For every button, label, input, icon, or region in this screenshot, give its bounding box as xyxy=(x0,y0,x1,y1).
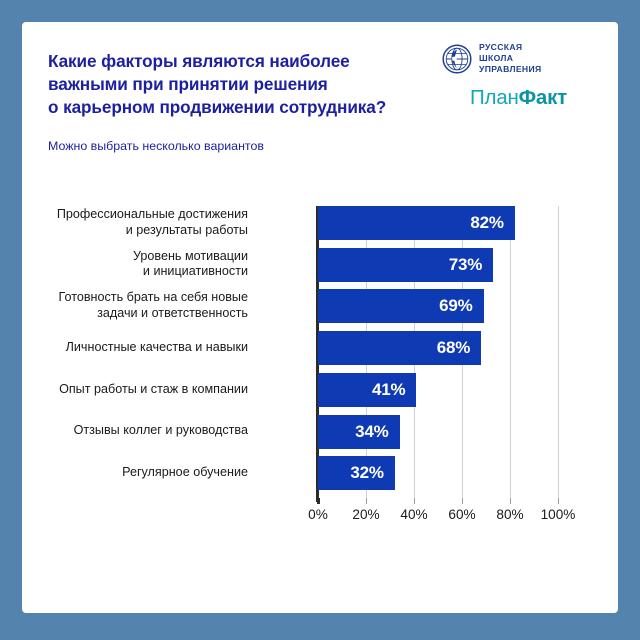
header: Какие факторы являются наиболее важными … xyxy=(22,22,618,162)
bar-row: 34% xyxy=(318,415,558,449)
category-label-line: Готовность брать на себя новые xyxy=(22,290,248,306)
infographic-frame: Какие факторы являются наиболее важными … xyxy=(0,0,640,640)
category-label-line: задачи и ответственность xyxy=(22,306,248,322)
bar-value-label: 32% xyxy=(350,463,394,483)
category-label-line: Уровень мотивации xyxy=(22,249,248,265)
category-label-line: Опыт работы и стаж в компании xyxy=(22,382,248,398)
x-tick-label-60: 60% xyxy=(448,507,475,522)
bar-value-label: 73% xyxy=(449,255,493,275)
x-axis: 0%20%40%60%80%100% xyxy=(318,498,568,538)
page-title-line-3: о карьерном продвижении сотрудника? xyxy=(48,96,418,119)
bar-value-label: 82% xyxy=(470,213,514,233)
rsu-logo-text: РУССКАЯ ШКОЛА УПРАВЛЕНИЯ xyxy=(479,42,542,76)
bar-value-label: 34% xyxy=(355,422,399,442)
page-title-line-1: Какие факторы являются наиболее xyxy=(48,50,418,73)
gridline-100 xyxy=(558,206,559,498)
bar-value-label: 68% xyxy=(437,338,481,358)
x-tick-20 xyxy=(366,498,367,504)
bar-row: 32% xyxy=(318,456,558,490)
x-tick-60 xyxy=(462,498,463,504)
infographic-card: Какие факторы являются наиболее важными … xyxy=(22,22,618,613)
plot-area: 82%Профессиональные достиженияи результа… xyxy=(318,206,558,498)
category-label: Регулярное обучение xyxy=(22,465,248,481)
bar: 34% xyxy=(318,415,400,449)
bar: 41% xyxy=(318,373,416,407)
rsu-logo-line-2: ШКОЛА xyxy=(479,53,542,64)
category-label: Профессиональные достиженияи результаты … xyxy=(22,207,248,238)
category-label: Уровень мотивациии инициативности xyxy=(22,249,248,280)
x-tick-label-100: 100% xyxy=(541,507,576,522)
bar: 82% xyxy=(318,206,515,240)
category-label-line: Регулярное обучение xyxy=(22,465,248,481)
category-label-line: Личностные качества и навыки xyxy=(22,340,248,356)
globe-emblem-icon xyxy=(442,44,472,74)
category-label-line: Профессиональные достижения xyxy=(22,207,248,223)
bar-chart: 82%Профессиональные достиженияи результа… xyxy=(22,182,618,582)
bar: 68% xyxy=(318,331,481,365)
rsu-logo: РУССКАЯ ШКОЛА УПРАВЛЕНИЯ xyxy=(442,42,542,76)
x-tick-80 xyxy=(510,498,511,504)
x-tick-label-0: 0% xyxy=(308,507,328,522)
rsu-logo-line-1: РУССКАЯ xyxy=(479,42,542,53)
planfact-logo-fakt: Факт xyxy=(519,86,567,109)
rsu-logo-line-3: УПРАВЛЕНИЯ xyxy=(479,64,542,75)
page-title: Какие факторы являются наиболее важными … xyxy=(48,50,418,119)
page-subtitle: Можно выбрать несколько вариантов xyxy=(48,138,264,154)
bar: 73% xyxy=(318,248,493,282)
category-label: Опыт работы и стаж в компании xyxy=(22,382,248,398)
bar-row: 69% xyxy=(318,289,558,323)
category-label-line: и инициативности xyxy=(22,264,248,280)
bar-row: 41% xyxy=(318,373,558,407)
x-tick-label-80: 80% xyxy=(496,507,523,522)
planfact-logo: ПланФакт xyxy=(470,86,567,110)
bar-value-label: 69% xyxy=(439,296,483,316)
x-tick-0 xyxy=(317,498,320,504)
bar-row: 82% xyxy=(318,206,558,240)
category-label: Личностные качества и навыки xyxy=(22,340,248,356)
page-title-line-2: важными при принятии решения xyxy=(48,73,418,96)
bar: 69% xyxy=(318,289,484,323)
bar: 32% xyxy=(318,456,395,490)
category-label: Отзывы коллег и руководства xyxy=(22,423,248,439)
x-tick-label-40: 40% xyxy=(400,507,427,522)
category-label: Готовность брать на себя новыезадачи и о… xyxy=(22,290,248,321)
bar-value-label: 41% xyxy=(372,380,416,400)
logo-block: РУССКАЯ ШКОЛА УПРАВЛЕНИЯ ПланФакт xyxy=(436,42,596,122)
planfact-logo-plan: План xyxy=(470,86,519,109)
x-tick-100 xyxy=(558,498,559,504)
bar-row: 68% xyxy=(318,331,558,365)
category-label-line: Отзывы коллег и руководства xyxy=(22,423,248,439)
category-label-line: и результаты работы xyxy=(22,223,248,239)
x-tick-40 xyxy=(414,498,415,504)
bar-row: 73% xyxy=(318,248,558,282)
x-tick-label-20: 20% xyxy=(352,507,379,522)
